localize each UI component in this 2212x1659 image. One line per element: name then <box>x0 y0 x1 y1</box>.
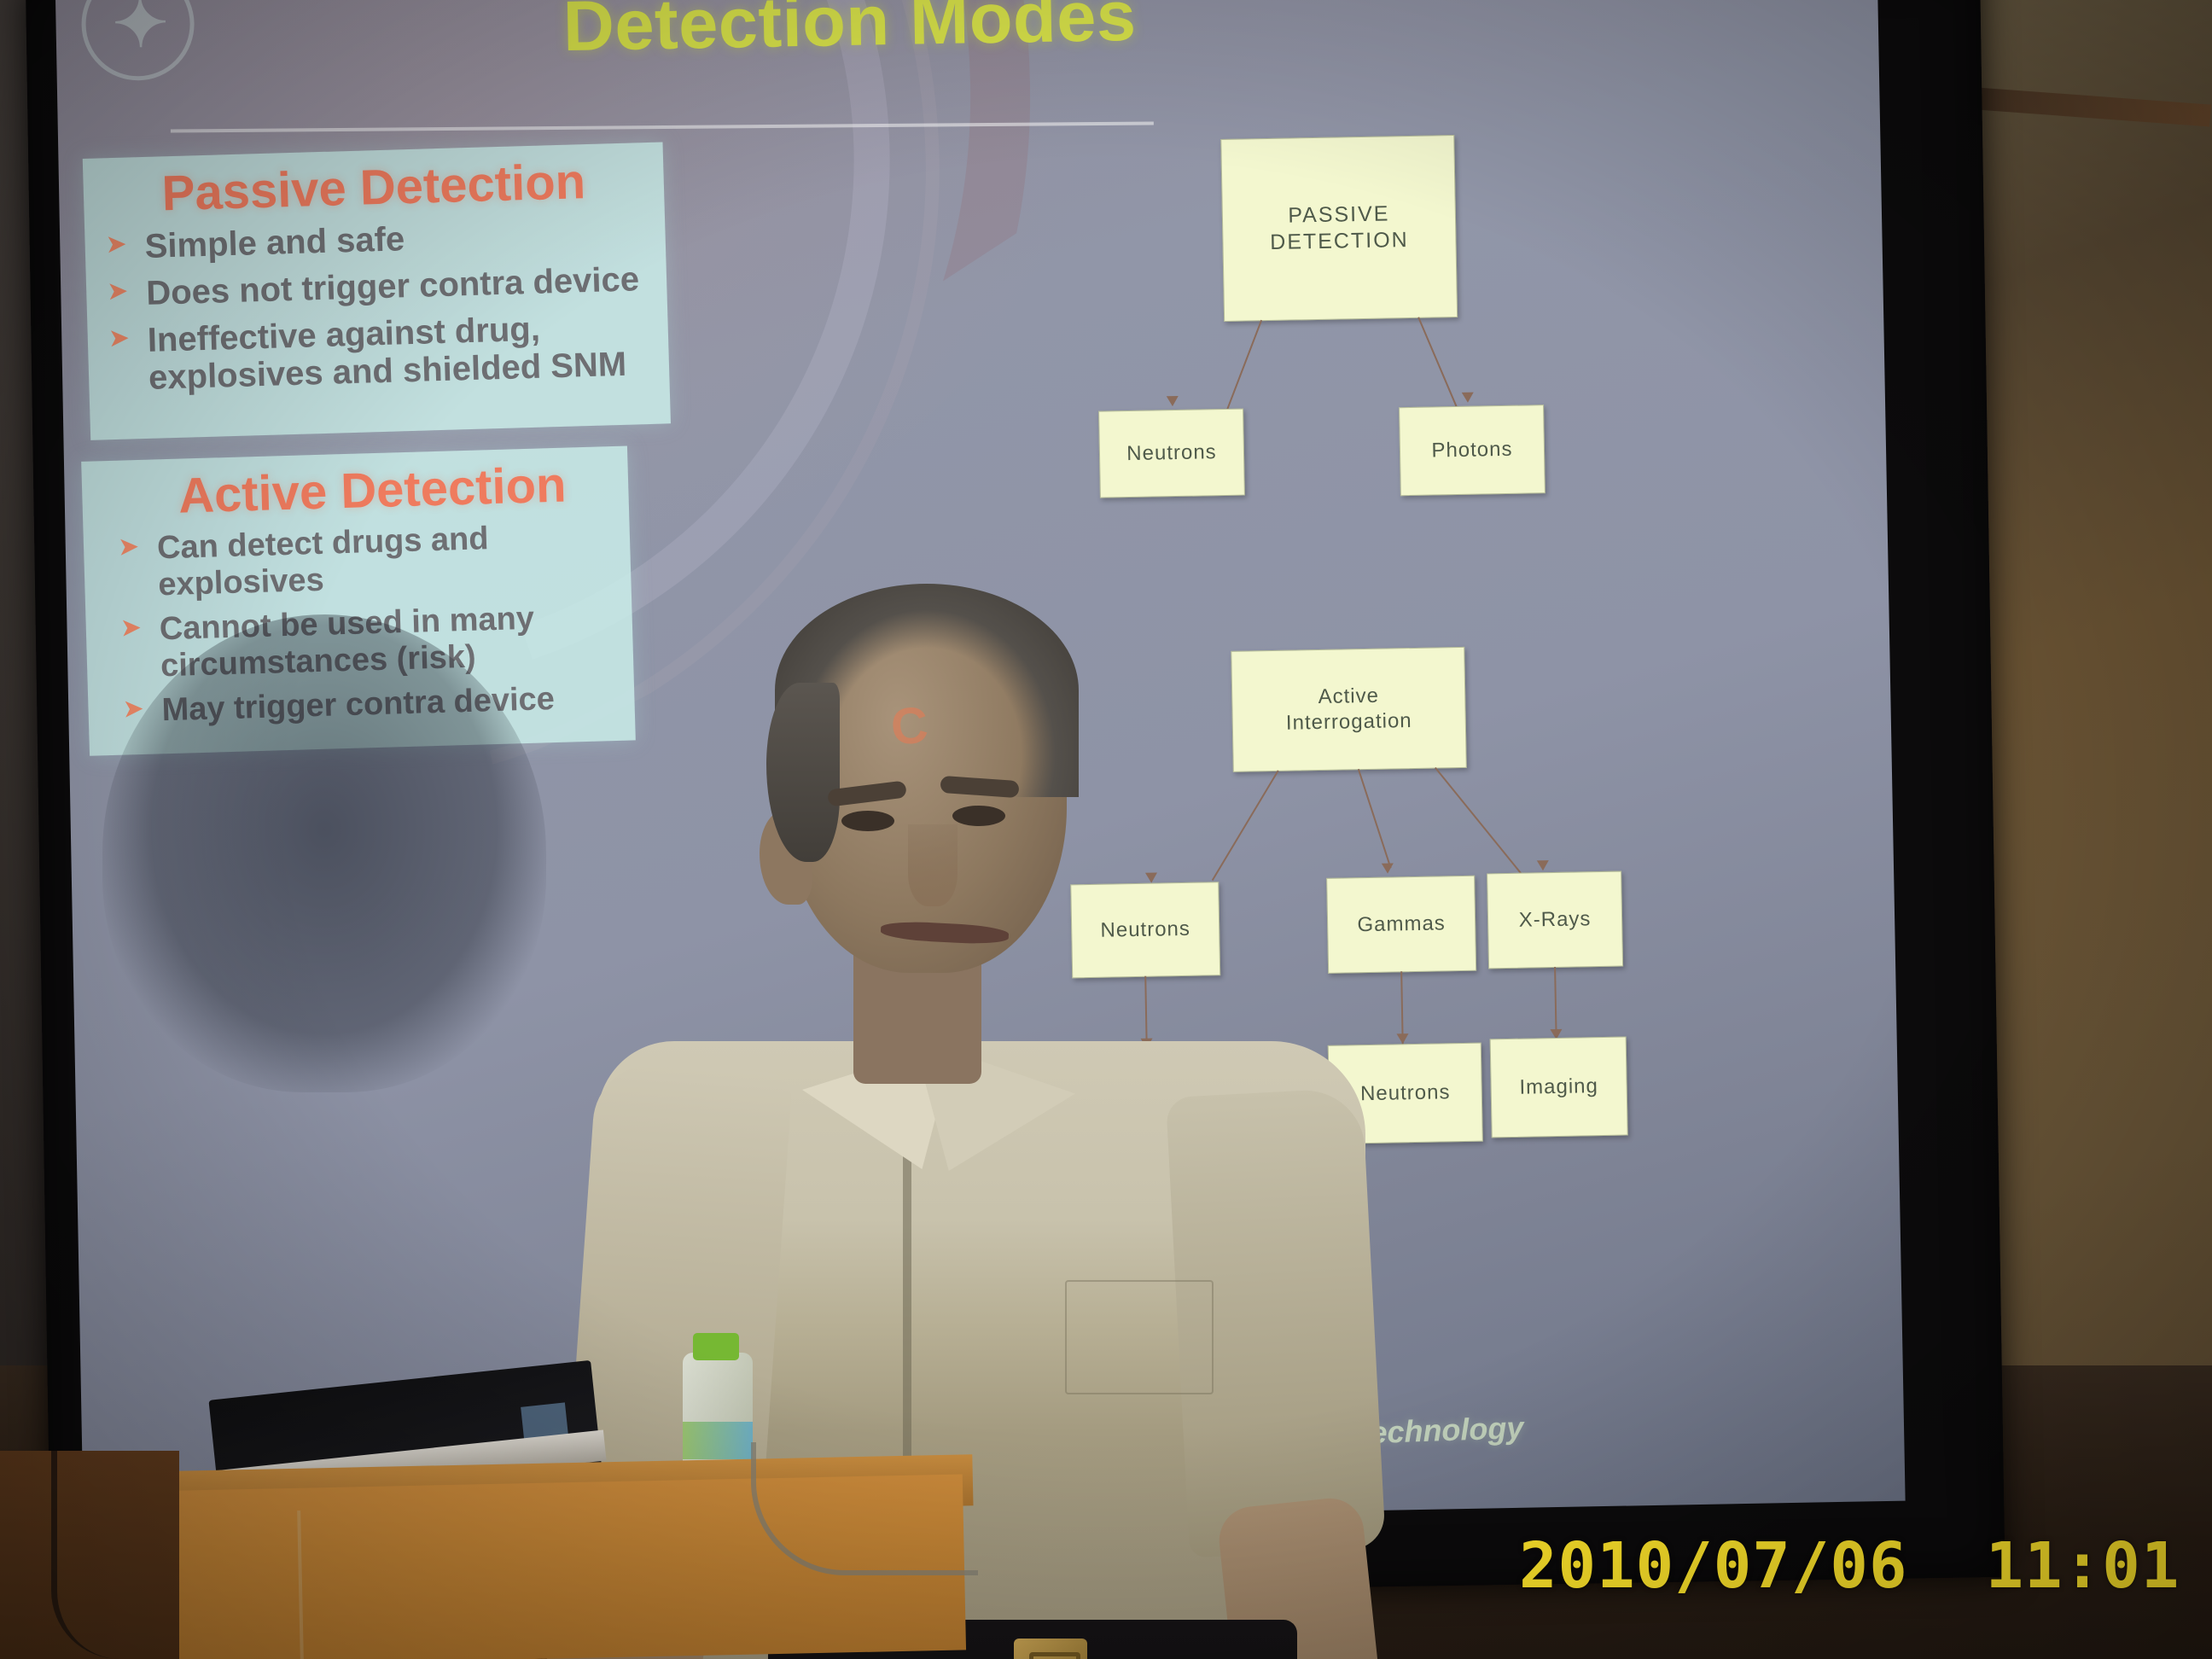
water-bottle-label <box>683 1422 753 1459</box>
list-item: Does not trigger contra device <box>93 259 659 314</box>
flow-node-label: X-Rays <box>1518 906 1591 934</box>
shirt-pocket <box>1065 1280 1214 1394</box>
arrowhead-icon <box>1382 863 1394 873</box>
presenter-eye-left <box>841 811 894 831</box>
arrowhead-icon <box>1167 396 1179 406</box>
arrowhead-icon <box>1396 1033 1408 1044</box>
arrowhead-icon <box>1537 860 1549 870</box>
flow-node-passive-photons: Photons <box>1399 405 1545 496</box>
water-bottle-cap <box>693 1333 739 1360</box>
power-cable-secondary <box>51 1451 202 1659</box>
arrowhead-icon <box>1462 393 1474 403</box>
flow-node-passive-detection: PASSIVE DETECTION <box>1220 135 1458 322</box>
projected-letter-on-forehead: C <box>889 696 930 757</box>
belt-buckle <box>1014 1639 1087 1659</box>
presenter-eye-right <box>952 806 1005 826</box>
technion-crest-logo: ✦ <box>80 0 195 81</box>
presenter-shadow <box>102 614 546 1092</box>
connector <box>1224 320 1262 416</box>
flow-node-label-line2: DETECTION <box>1270 227 1409 256</box>
passive-detection-panel: Passive Detection Simple and safe Does n… <box>83 142 671 439</box>
flow-node-label-line1: PASSIVE <box>1288 201 1390 229</box>
flow-node-leaf-imaging: Imaging <box>1490 1036 1628 1138</box>
camera-timestamp: 2010/07/06 11:01 <box>1519 1529 2180 1603</box>
flow-node-active-xrays: X-Rays <box>1487 871 1623 969</box>
connector <box>1417 317 1462 418</box>
flow-node-label: Neutrons <box>1126 439 1217 467</box>
list-item: Can detect drugs and explosives <box>90 517 623 605</box>
flow-node-label: Imaging <box>1519 1074 1598 1101</box>
crest-glyph: ✦ <box>112 0 164 58</box>
flow-node-passive-neutrons: Neutrons <box>1098 409 1245 498</box>
passive-bullet-list: Simple and safe Does not trigger contra … <box>84 212 669 399</box>
list-item: Ineffective against drug, explosives and… <box>94 306 661 399</box>
photograph: ✦ Detection Modes Passive Detection Simp… <box>0 0 2212 1659</box>
flow-node-label: Photons <box>1431 437 1513 464</box>
passive-detection-heading: Passive Detection <box>83 150 665 224</box>
active-detection-heading: Active Detection <box>115 454 629 526</box>
slide-title: Detection Modes <box>422 0 1278 70</box>
presenter-nose <box>908 824 958 906</box>
